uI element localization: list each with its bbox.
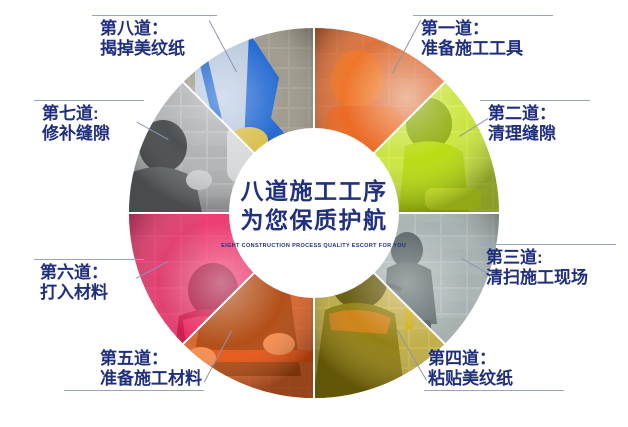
rule-step-1 (413, 15, 553, 16)
rule-step-3 (480, 244, 616, 245)
label-step-6-detail: 打入材料 (40, 283, 108, 303)
label-step-5-detail: 准备施工材料 (100, 369, 202, 389)
label-step-4-heading: 第四道： (428, 349, 513, 369)
label-step-6-heading: 第六道： (40, 263, 108, 283)
label-step-8: 第八道： 揭掉美纹纸 (100, 19, 185, 59)
label-step-5-heading: 第五道： (100, 349, 202, 369)
label-step-4: 第四道： 粘贴美纹纸 (428, 349, 513, 389)
label-step-3-heading: 第三道: (486, 248, 588, 268)
infographic-canvas: 八道施工工序 为您保质护航 EIGHT CONSTRUCTION PROCESS… (0, 0, 628, 427)
rule-step-2 (480, 100, 590, 101)
label-step-3: 第三道: 清扫施工现场 (486, 248, 588, 288)
rule-step-7 (34, 100, 144, 101)
label-step-6: 第六道： 打入材料 (40, 263, 108, 303)
center-title-line-1: 八道施工工序 (241, 177, 388, 206)
label-step-1-detail: 准备施工工具 (421, 39, 523, 59)
label-step-5: 第五道： 准备施工材料 (100, 349, 202, 389)
label-step-8-heading: 第八道： (100, 19, 185, 39)
label-step-8-detail: 揭掉美纹纸 (100, 39, 185, 59)
label-step-7-heading: 第七道: (42, 104, 110, 124)
rule-step-6 (34, 259, 144, 260)
center-title-line-2: 为您保质护航 (241, 206, 388, 235)
wheel-center-hub: 八道施工工序 为您保质护航 EIGHT CONSTRUCTION PROCESS… (229, 128, 399, 298)
label-step-2: 第二道： 清理缝隙 (488, 104, 556, 144)
label-step-1: 第一道： 准备施工工具 (421, 19, 523, 59)
label-step-1-heading: 第一道： (421, 19, 523, 39)
label-step-4-detail: 粘贴美纹纸 (428, 369, 513, 389)
label-step-3-detail: 清扫施工现场 (486, 268, 588, 288)
rule-step-4 (424, 390, 564, 391)
rule-step-5 (64, 390, 204, 391)
label-step-7: 第七道: 修补缝隙 (42, 104, 110, 144)
label-step-2-detail: 清理缝隙 (488, 124, 556, 144)
label-step-7-detail: 修补缝隙 (42, 124, 110, 144)
label-step-2-heading: 第二道： (488, 104, 556, 124)
rule-step-8 (92, 15, 217, 16)
center-subtitle-english: EIGHT CONSTRUCTION PROCESS QUALITY ESCOR… (221, 243, 406, 249)
